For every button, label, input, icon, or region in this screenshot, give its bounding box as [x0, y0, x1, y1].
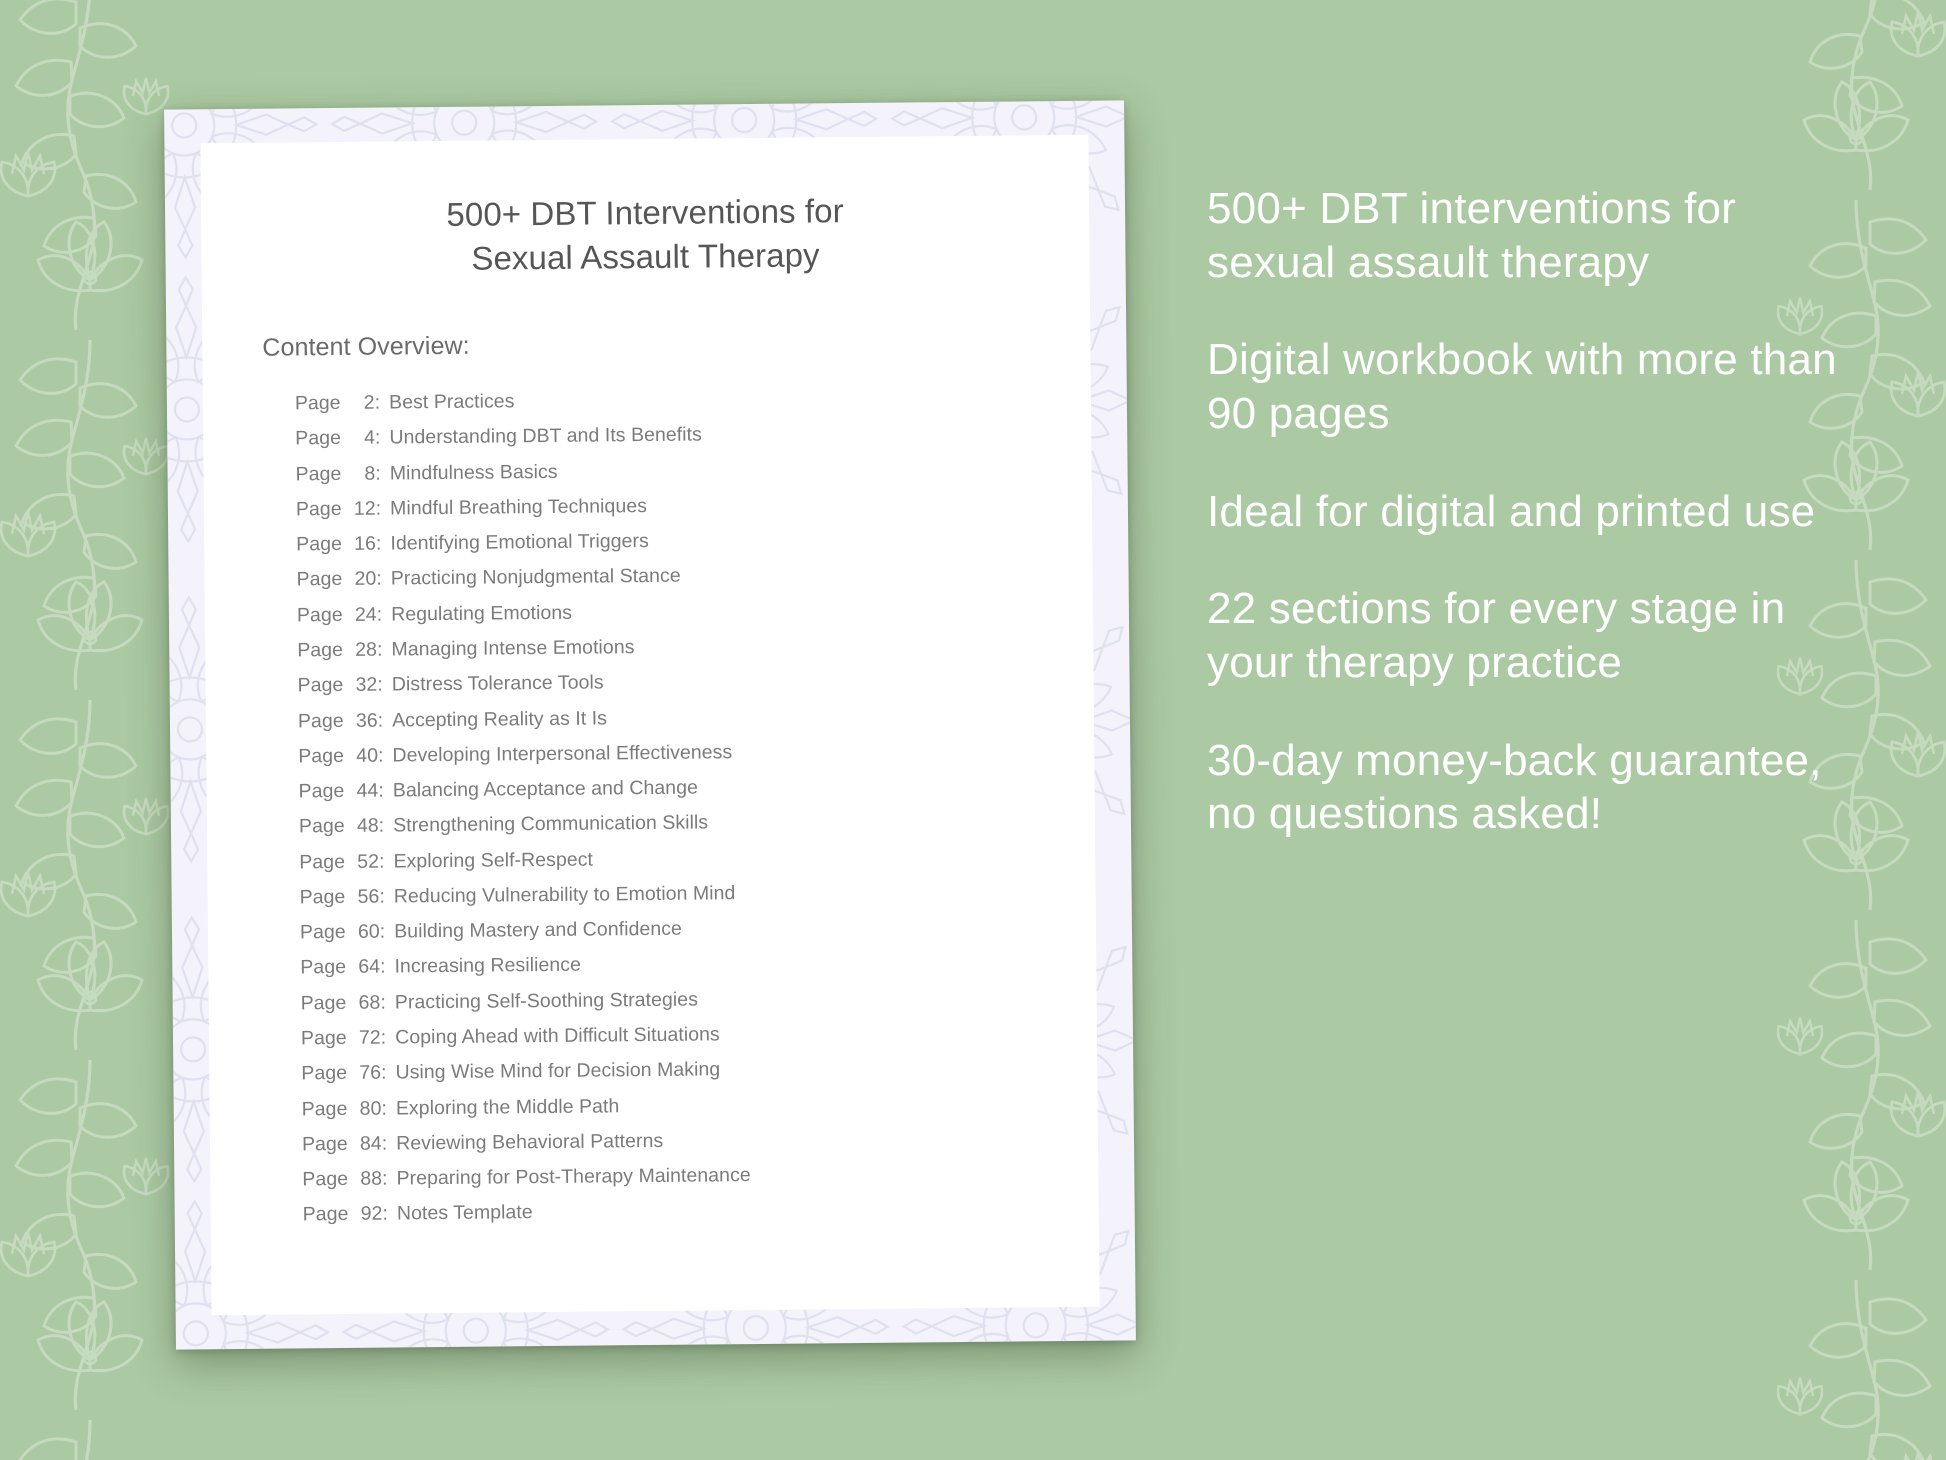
toc-page-word: Page — [298, 676, 344, 696]
toc-page-word: Page — [301, 1064, 347, 1084]
toc-page-number: 80 — [347, 1099, 381, 1119]
toc-entry-title: Developing Interpersonal Effectiveness — [392, 743, 732, 766]
marketing-bullet: Ideal for digital and printed use — [1207, 485, 1847, 539]
toc-entry-title: Reducing Vulnerability to Emotion Mind — [394, 884, 736, 907]
toc-page-word: Page — [299, 817, 345, 837]
toc-colon: : — [376, 499, 391, 519]
marketing-bullet: 30-day money-back guarantee, no question… — [1207, 734, 1847, 841]
toc-colon: : — [380, 923, 395, 943]
toc-page-number: 68 — [346, 993, 380, 1013]
toc-colon: : — [382, 1205, 397, 1225]
toc-page-number: 28 — [343, 641, 377, 661]
toc-colon: : — [380, 993, 395, 1013]
page-title: 500+ DBT Interventions for Sexual Assaul… — [200, 135, 1089, 283]
toc-page-word: Page — [301, 994, 347, 1014]
toc-page-number: 84 — [348, 1134, 382, 1154]
toc-entry-title: Distress Tolerance Tools — [392, 674, 604, 696]
toc-page-word: Page — [299, 853, 345, 873]
toc-entry-title: Best Practices — [389, 392, 515, 413]
marketing-bullet: 500+ DBT interventions for sexual assaul… — [1207, 182, 1847, 289]
toc-entry-title: Practicing Nonjudgmental Stance — [391, 567, 681, 589]
toc-entry-title: Increasing Resilience — [394, 956, 581, 977]
toc-entry-title: Exploring the Middle Path — [396, 1097, 620, 1119]
toc-entry-title: Exploring Self-Respect — [393, 850, 593, 871]
toc-colon: : — [377, 640, 392, 660]
toc-entry-title: Practicing Self-Soothing Strategies — [395, 990, 698, 1012]
toc-colon: : — [382, 1134, 397, 1154]
toc-colon: : — [375, 429, 390, 449]
toc-page-number: 52 — [345, 852, 379, 872]
toc-entry: Page92:Notes Template — [303, 1190, 1099, 1233]
marketing-bullet: 22 sections for every stage in your ther… — [1207, 582, 1847, 689]
page-title-line-2: Sexual Assault Therapy — [271, 231, 1019, 282]
toc-entry-title: Balancing Acceptance and Change — [393, 779, 698, 801]
toc-page-word: Page — [297, 570, 343, 590]
workbook-page: 500+ DBT Interventions for Sexual Assaul… — [200, 135, 1099, 1315]
toc-page-number: 32 — [343, 676, 377, 696]
toc-colon: : — [375, 393, 390, 413]
content-overview-label: Content Overview: — [202, 274, 1091, 364]
toc-page-word: Page — [300, 923, 346, 943]
toc-colon: : — [376, 570, 391, 590]
toc-colon: : — [376, 535, 391, 555]
product-listing-image: 500+ DBT Interventions for Sexual Assaul… — [0, 0, 1946, 1460]
toc-page-word: Page — [300, 958, 346, 978]
toc-page-number: 48 — [345, 817, 379, 837]
toc-page-word: Page — [302, 1170, 348, 1190]
toc-page-word: Page — [299, 782, 345, 802]
toc-page-number: 44 — [344, 782, 378, 802]
toc-page-word: Page — [298, 747, 344, 767]
toc-page-word: Page — [295, 429, 341, 449]
toc-page-number: 40 — [344, 746, 378, 766]
toc-entry-title: Managing Intense Emotions — [391, 638, 634, 660]
toc-page-word: Page — [302, 1135, 348, 1155]
toc-entry-title: Identifying Emotional Triggers — [390, 532, 649, 554]
toc-page-number: 8 — [341, 464, 375, 484]
toc-colon: : — [381, 1029, 396, 1049]
toc-page-number: 4 — [341, 429, 375, 449]
page-title-line-1: 500+ DBT Interventions for — [271, 187, 1019, 238]
toc-entry-title: Accepting Reality as It Is — [392, 709, 607, 731]
toc-colon: : — [380, 958, 395, 978]
toc-colon: : — [379, 887, 394, 907]
toc-colon: : — [382, 1170, 397, 1190]
toc-entry-title: Mindfulness Basics — [390, 462, 558, 483]
toc-page-number: 60 — [346, 923, 380, 943]
toc-entry-title: Understanding DBT and Its Benefits — [389, 426, 702, 448]
toc-colon: : — [381, 1099, 396, 1119]
toc-page-number: 88 — [348, 1170, 382, 1190]
toc-page-number: 64 — [346, 958, 380, 978]
toc-page-word: Page — [295, 394, 341, 414]
toc-page-word: Page — [297, 641, 343, 661]
toc-page-number: 24 — [343, 605, 377, 625]
toc-page-word: Page — [296, 535, 342, 555]
toc-page-word: Page — [301, 1029, 347, 1049]
toc-entry-title: Strengthening Communication Skills — [393, 814, 708, 837]
toc-page-word: Page — [297, 606, 343, 626]
toc-page-number: 2 — [341, 394, 375, 414]
toc-page-number: 36 — [344, 711, 378, 731]
marketing-bullet: Digital workbook with more than 90 pages — [1207, 333, 1847, 440]
toc-colon: : — [375, 464, 390, 484]
toc-entry-title: Building Mastery and Confidence — [394, 920, 682, 942]
toc-entry-title: Using Wise Mind for Decision Making — [395, 1061, 720, 1084]
toc-entry-title: Regulating Emotions — [391, 603, 572, 624]
toc-entry-title: Mindful Breathing Techniques — [390, 497, 647, 519]
toc-page-word: Page — [296, 500, 342, 520]
toc-colon: : — [378, 746, 393, 766]
toc-colon: : — [381, 1064, 396, 1084]
toc-page-number: 92 — [348, 1205, 382, 1225]
toc-page-word: Page — [303, 1205, 349, 1225]
toc-colon: : — [378, 711, 393, 731]
toc-entry-title: Reviewing Behavioral Patterns — [396, 1132, 663, 1154]
toc-entry-title: Preparing for Post-Therapy Maintenance — [396, 1166, 750, 1189]
toc-colon: : — [379, 852, 394, 872]
toc-colon: : — [379, 817, 394, 837]
toc-page-word: Page — [300, 888, 346, 908]
toc-colon: : — [378, 782, 393, 802]
toc-page-word: Page — [302, 1100, 348, 1120]
toc-page-word: Page — [295, 464, 341, 484]
toc-page-word: Page — [298, 711, 344, 731]
toc-page-number: 16 — [342, 535, 376, 555]
toc-page-number: 56 — [345, 888, 379, 908]
toc-page-number: 12 — [342, 499, 376, 519]
toc-colon: : — [377, 605, 392, 625]
table-of-contents: Page2:Best PracticesPage4:Understanding … — [203, 355, 1099, 1234]
toc-page-number: 76 — [347, 1064, 381, 1084]
toc-entry-title: Coping Ahead with Difficult Situations — [395, 1025, 720, 1048]
toc-entry-title: Notes Template — [397, 1204, 533, 1225]
toc-colon: : — [377, 676, 392, 696]
toc-page-number: 20 — [342, 570, 376, 590]
workbook-preview-card: 500+ DBT Interventions for Sexual Assaul… — [164, 100, 1136, 1349]
marketing-bullets: 500+ DBT interventions for sexual assaul… — [1207, 182, 1847, 841]
toc-page-number: 72 — [347, 1029, 381, 1049]
